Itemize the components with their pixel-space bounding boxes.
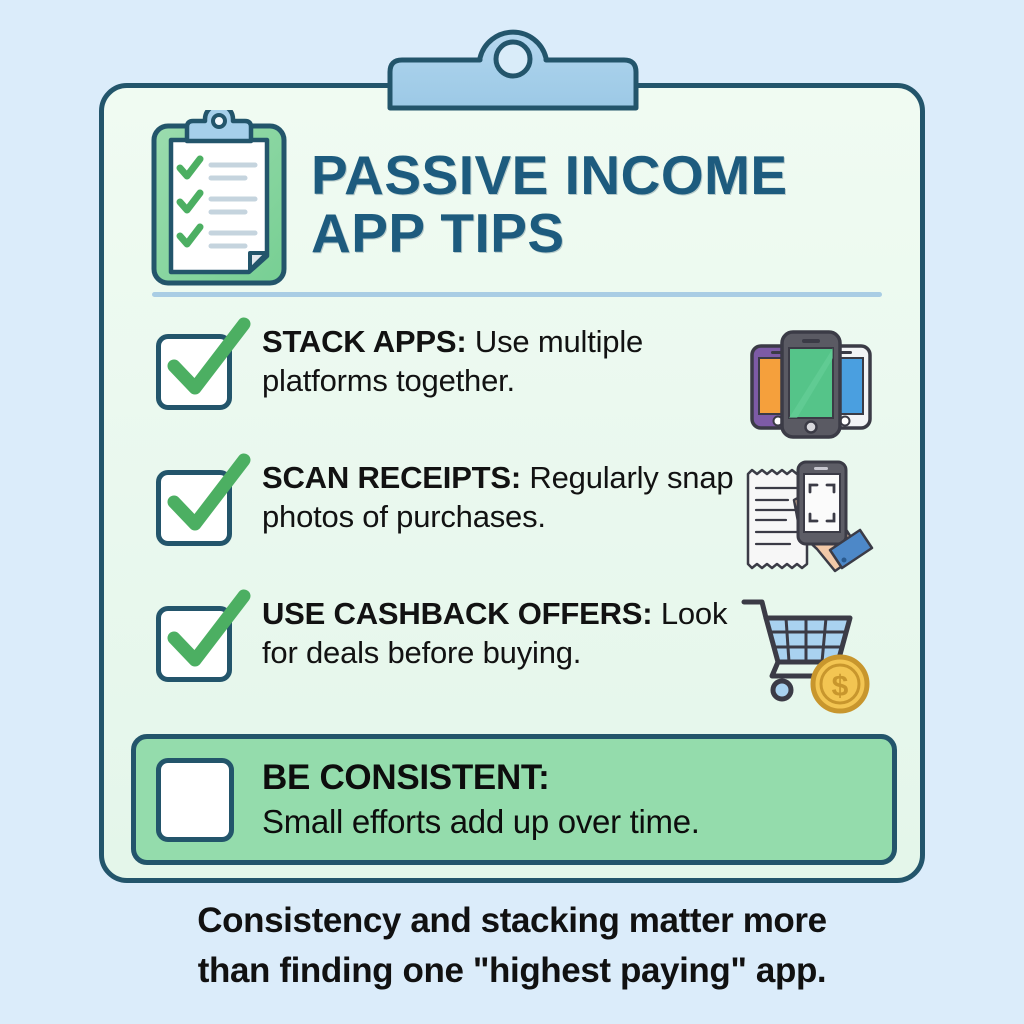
checkbox-square [156, 606, 232, 682]
hand-scanning-receipt-icon [740, 458, 880, 582]
tip-text: USE CASHBACK OFFERS: Look for deals befo… [262, 594, 762, 673]
highlight-text: BE CONSISTENT:Small efforts add up over … [262, 755, 700, 843]
clipboard-checklist-icon [149, 110, 289, 288]
checked-checkbox-icon[interactable] [152, 460, 244, 552]
highlight-body: Small efforts add up over time. [262, 803, 700, 840]
card-header: PASSIVE INCOME APP TIPS [149, 104, 889, 294]
checkbox-square [156, 758, 234, 842]
tip-row[interactable]: STACK APPS: Use multiple platforms toget… [104, 316, 920, 452]
tip-text: SCAN RECEIPTS: Regularly snap photos of … [262, 458, 762, 537]
empty-checkbox-icon[interactable] [154, 752, 240, 848]
tip-text: STACK APPS: Use multiple platforms toget… [262, 322, 762, 401]
title-block: PASSIVE INCOME APP TIPS [311, 146, 788, 263]
checked-checkbox-icon[interactable] [152, 324, 244, 416]
clipboard-clip-icon [382, 14, 644, 114]
shopping-cart-coin-icon: $ [740, 594, 880, 718]
checked-checkbox-icon[interactable] [152, 596, 244, 688]
checkbox-square [156, 470, 232, 546]
highlight-lead: BE CONSISTENT: [262, 758, 550, 797]
tips-card: PASSIVE INCOME APP TIPS STACK APPS: Use … [99, 83, 925, 883]
infographic-canvas: PASSIVE INCOME APP TIPS STACK APPS: Use … [0, 0, 1024, 1024]
header-divider [152, 292, 882, 297]
footer-caption: Consistency and stacking matter more tha… [0, 896, 1024, 995]
tips-list: STACK APPS: Use multiple platforms toget… [104, 316, 920, 724]
tip-lead: SCAN RECEIPTS: [262, 460, 521, 495]
tip-row[interactable]: USE CASHBACK OFFERS: Look for deals befo… [104, 588, 920, 724]
highlight-tip-row[interactable]: BE CONSISTENT:Small efforts add up over … [131, 734, 897, 865]
svg-text:$: $ [832, 670, 849, 703]
tip-row[interactable]: SCAN RECEIPTS: Regularly snap photos of … [104, 452, 920, 588]
page-title: PASSIVE INCOME APP TIPS [311, 146, 788, 263]
stacked-phones-icon [740, 322, 880, 446]
tip-lead: USE CASHBACK OFFERS: [262, 596, 652, 631]
tip-lead: STACK APPS: [262, 324, 466, 359]
checkbox-square [156, 334, 232, 410]
